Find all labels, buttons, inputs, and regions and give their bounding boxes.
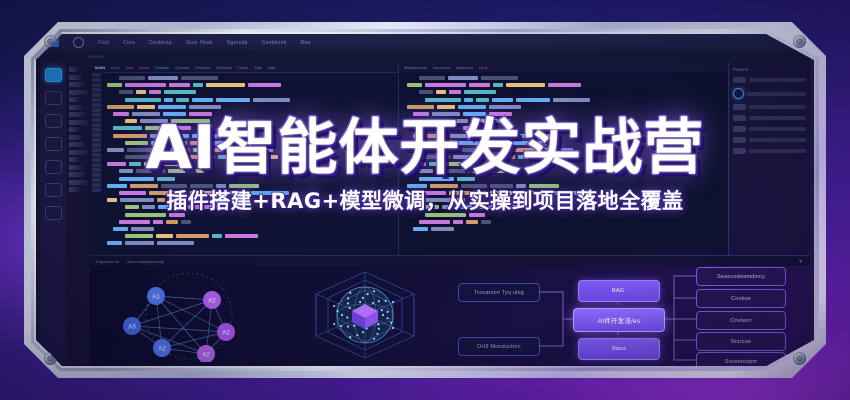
vignette-overlay [0, 0, 850, 400]
banner-stage: Flud Cora Cenbtrap Gour Hoak Sgorcab Con… [0, 0, 850, 400]
